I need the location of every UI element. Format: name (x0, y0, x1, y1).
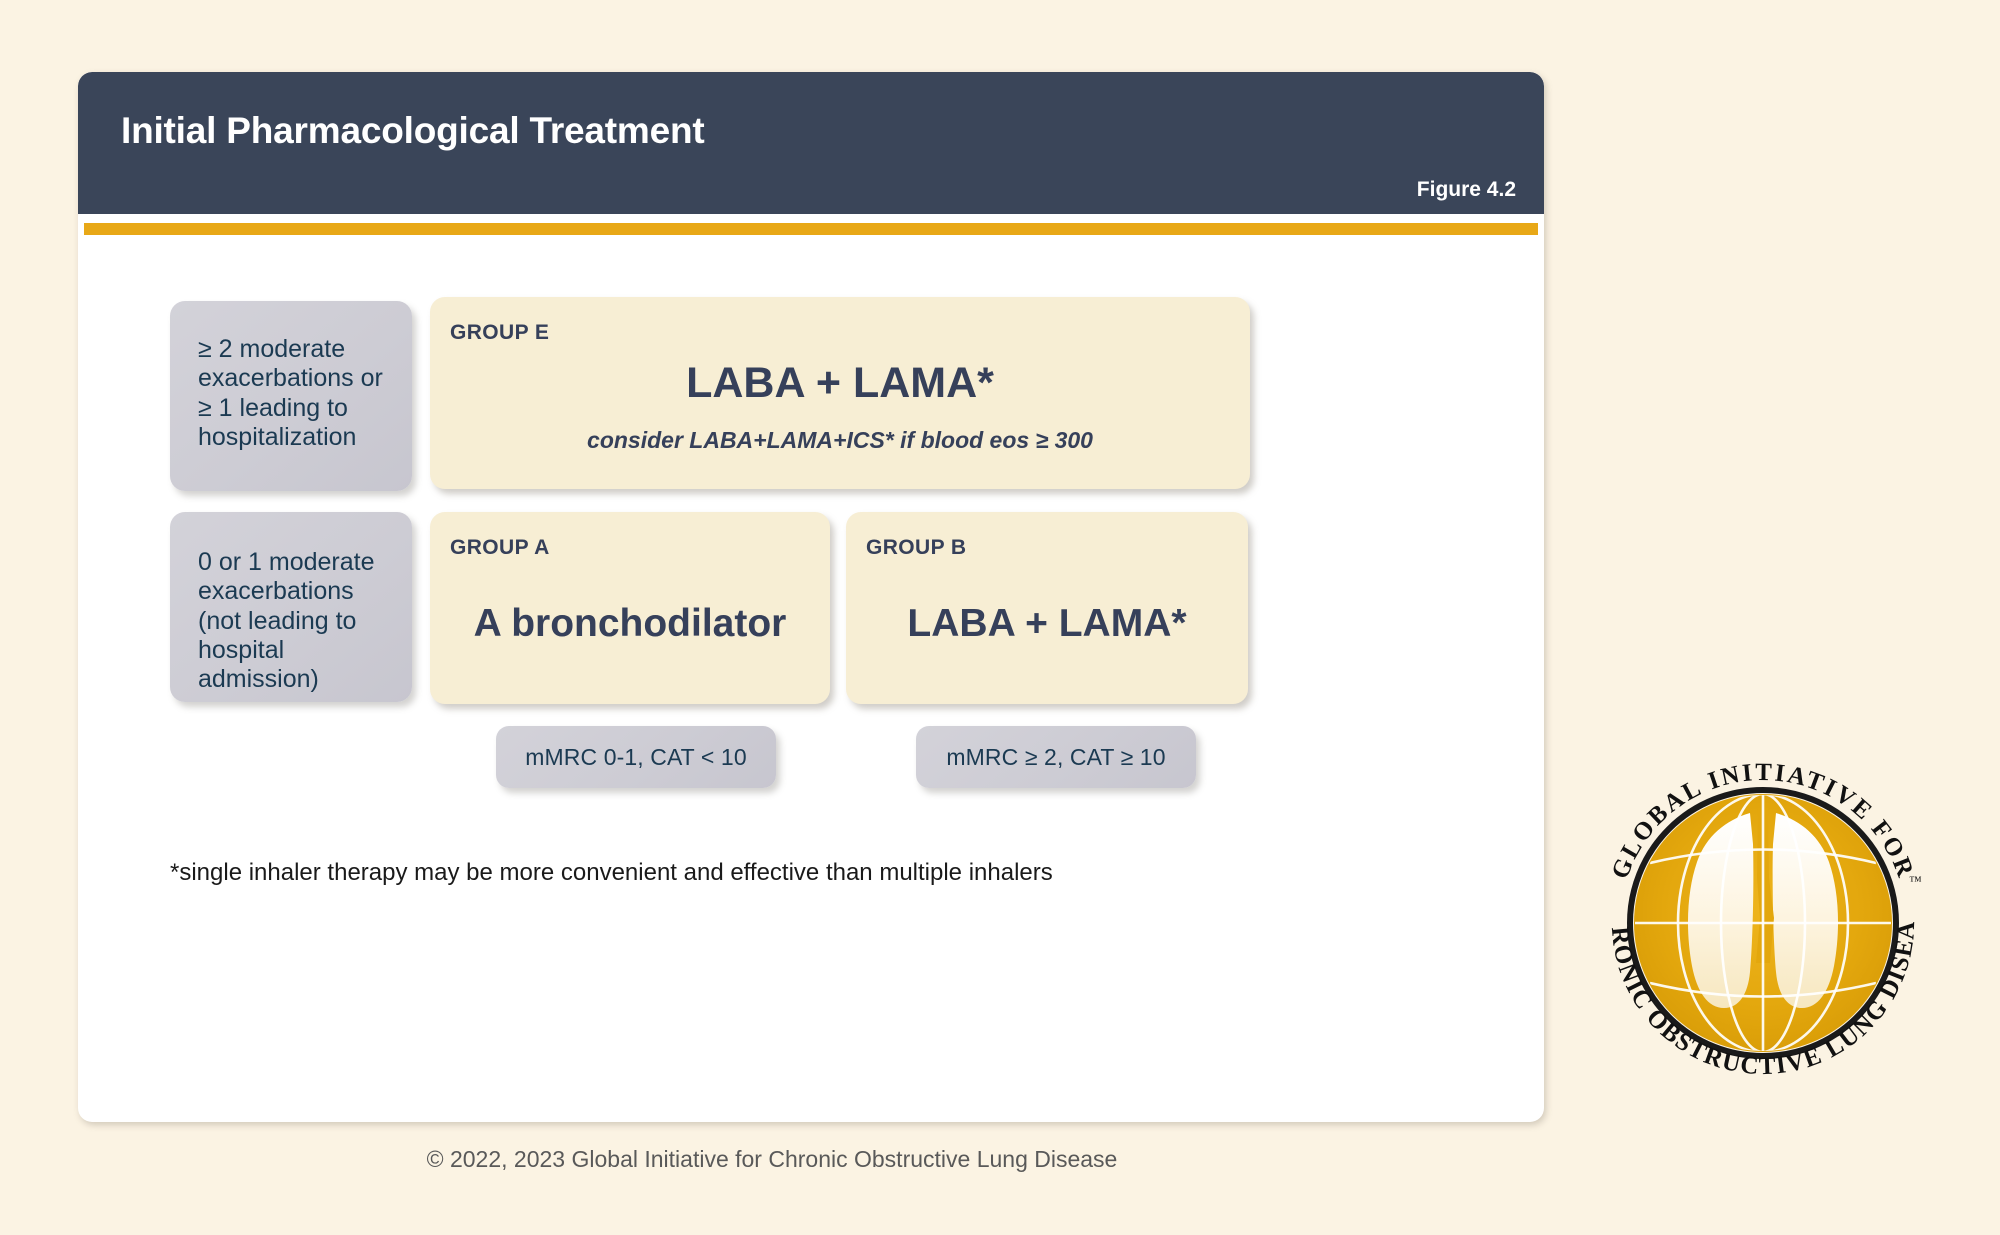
condition-line: ≥ 2 moderate (198, 335, 390, 364)
footnote-text: *single inhaler therapy may be more conv… (170, 859, 1053, 887)
symptom-pill-group-b: mMRC ≥ 2, CAT ≥ 10 (916, 726, 1196, 788)
condition-line: ≥ 1 leading to (198, 394, 390, 423)
condition-line: hospital admission) (198, 636, 390, 695)
group-b-label: GROUP B (866, 536, 966, 560)
group-a-box: GROUP A A bronchodilator (430, 512, 830, 704)
condition-box-high-exacerbations: ≥ 2 moderate exacerbations or ≥ 1 leadin… (170, 301, 412, 491)
condition-box-low-exacerbations: 0 or 1 moderate exacerbations (not leadi… (170, 512, 412, 702)
group-b-treatment: LABA + LAMA* (846, 602, 1248, 646)
group-e-label: GROUP E (450, 321, 549, 345)
condition-line: hospitalization (198, 423, 390, 452)
condition-line: exacerbations (198, 577, 390, 606)
condition-line: 0 or 1 moderate (198, 548, 390, 577)
group-e-treatment: LABA + LAMA* (430, 359, 1250, 408)
figure-number-label: Figure 4.2 (1417, 178, 1516, 202)
logo-trademark-symbol: ™ (1909, 873, 1922, 888)
group-b-box: GROUP B LABA + LAMA* (846, 512, 1248, 704)
group-a-treatment: A bronchodilator (430, 602, 830, 646)
copyright-text: © 2022, 2023 Global Initiative for Chron… (0, 1146, 1544, 1173)
group-e-box: GROUP E LABA + LAMA* consider LABA+LAMA+… (430, 297, 1250, 489)
group-e-subtext: consider LABA+LAMA+ICS* if blood eos ≥ 3… (430, 427, 1250, 454)
symptom-pill-group-a: mMRC 0-1, CAT < 10 (496, 726, 776, 788)
gold-accent-rule (84, 223, 1538, 235)
condition-line: (not leading to (198, 607, 390, 636)
card-header: Initial Pharmacological Treatment Figure… (78, 72, 1544, 214)
gold-logo: GLOBAL INITIATIVE FOR CHRONIC OBSTRUCTIV… (1598, 758, 1928, 1088)
figure-card: Initial Pharmacological Treatment Figure… (78, 72, 1544, 1122)
page-title: Initial Pharmacological Treatment (121, 110, 705, 152)
group-a-label: GROUP A (450, 536, 550, 560)
condition-line: exacerbations or (198, 364, 390, 393)
